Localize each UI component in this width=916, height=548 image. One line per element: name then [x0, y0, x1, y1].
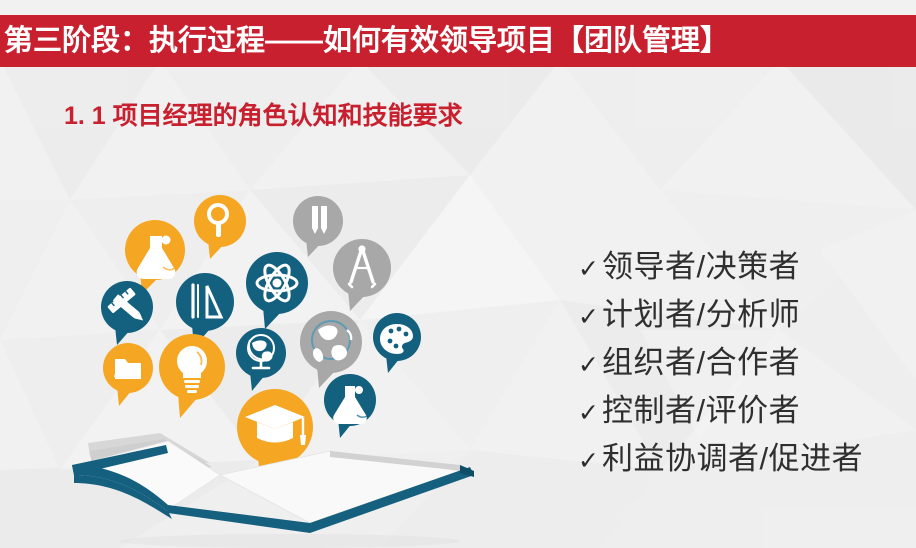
list-item: ✓ 组织者/合作者 — [578, 339, 908, 387]
list-item-label: 领导者/决策者 — [602, 243, 800, 291]
list-item: ✓ 领导者/决策者 — [578, 243, 908, 291]
role-bullet-list: ✓ 领导者/决策者 ✓ 计划者/分析师 ✓ 组织者/合作者 ✓ 控制者/评价者 … — [578, 243, 908, 483]
check-icon: ✓ — [578, 389, 602, 437]
ruler-pencil-icon — [101, 281, 153, 345]
lightbulb-icon — [159, 334, 225, 418]
list-item-label: 控制者/评价者 — [602, 387, 800, 435]
list-item-label: 组织者/合作者 — [602, 339, 800, 387]
list-item: ✓ 计划者/分析师 — [578, 291, 908, 339]
check-icon: ✓ — [578, 341, 602, 389]
open-book-illustration — [60, 415, 520, 548]
globe-stand-icon — [236, 328, 286, 391]
list-item-label: 计划者/分析师 — [602, 291, 800, 339]
slide-canvas: 第三阶段：执行过程——如何有效领导项目【团队管理】 1. 1 项目经理的角色认知… — [0, 0, 916, 548]
atom-icon — [246, 252, 308, 329]
list-item: ✓ 控制者/评价者 — [578, 387, 908, 435]
magnifier-icon — [194, 195, 246, 259]
folder-icon — [103, 343, 153, 406]
check-icon: ✓ — [578, 293, 602, 341]
list-item-label: 利益协调者/促进者 — [602, 435, 863, 483]
compass-icon — [333, 239, 391, 311]
check-icon: ✓ — [578, 437, 602, 485]
palette-icon — [373, 313, 421, 373]
list-item: ✓ 利益协调者/促进者 — [578, 435, 908, 483]
check-icon: ✓ — [578, 245, 602, 293]
pencils-icon — [293, 196, 343, 257]
